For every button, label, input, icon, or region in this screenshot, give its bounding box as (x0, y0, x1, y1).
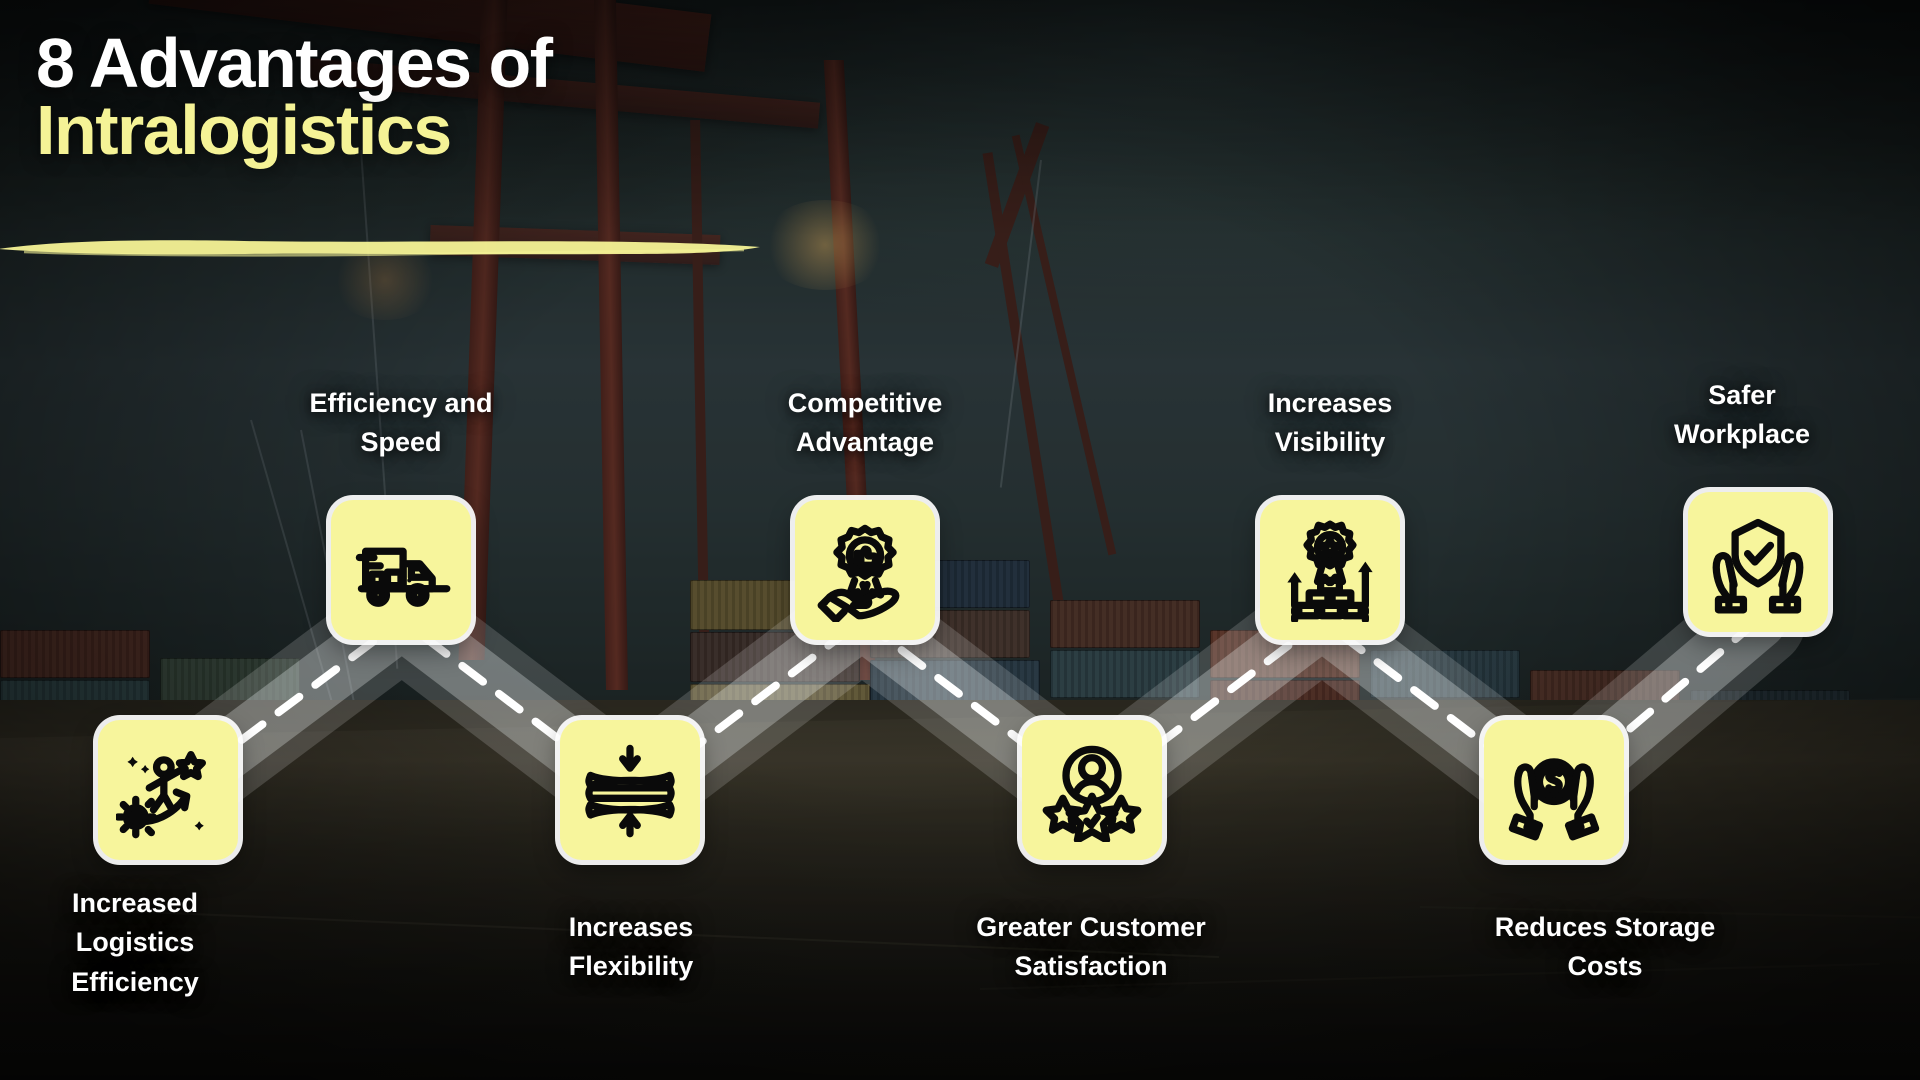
tile-efficiency-and-speed[interactable] (331, 500, 471, 640)
infographic-canvas: 8 Advantages of Intralogistics Efficienc… (0, 0, 1920, 1080)
caption-safer-workplace: Safer Workplace (1592, 376, 1892, 455)
infographic-title: 8 Advantages of Intralogistics (36, 30, 552, 164)
caption-increased-logistics-efficiency: Increased Logistics Efficiency (0, 884, 285, 1002)
hands-holding-dollar-coin-icon (1502, 738, 1606, 842)
tile-increased-logistics-efficiency[interactable] (98, 720, 238, 860)
caption-line: Visibility (1180, 423, 1480, 462)
caption-line: Advantage (715, 423, 1015, 462)
caption-line: Efficiency and (251, 384, 551, 423)
caption-line: Flexibility (481, 947, 781, 986)
tile-safer-workplace[interactable] (1688, 492, 1828, 632)
customer-rating-stars-icon (1040, 738, 1144, 842)
caption-line: Costs (1455, 947, 1755, 986)
tile-increases-flexibility[interactable] (560, 720, 700, 860)
caption-line: Logistics (0, 923, 285, 962)
title-line-2: Intralogistics (36, 97, 552, 164)
caption-line: Efficiency (0, 963, 285, 1002)
caption-line: Speed (251, 423, 551, 462)
tile-competitive-advantage[interactable] (795, 500, 935, 640)
caption-greater-customer-satisfaction: Greater Customer Satisfaction (941, 908, 1241, 987)
caption-line: Greater Customer (941, 908, 1241, 947)
hands-holding-shield-check-icon (1706, 510, 1810, 614)
award-badge-over-brick-stack-icon (1278, 518, 1382, 622)
caption-increases-visibility: Increases Visibility (1180, 384, 1480, 463)
caption-line: Safer (1592, 376, 1892, 415)
hand-holding-thumbs-up-badge-icon (813, 518, 917, 622)
caption-line: Reduces Storage (1455, 908, 1755, 947)
caption-line: Workplace (1592, 415, 1892, 454)
caption-increases-flexibility: Increases Flexibility (481, 908, 781, 987)
caption-reduces-storage-costs: Reduces Storage Costs (1455, 908, 1755, 987)
caption-efficiency-and-speed: Efficiency and Speed (251, 384, 551, 463)
caption-line: Competitive (715, 384, 1015, 423)
caption-line: Increased (0, 884, 285, 923)
caption-competitive-advantage: Competitive Advantage (715, 384, 1015, 463)
tile-increases-visibility[interactable] (1260, 500, 1400, 640)
flexible-bending-bars-icon (578, 738, 682, 842)
caption-line: Satisfaction (941, 947, 1241, 986)
caption-line: Increases (1180, 384, 1480, 423)
tile-greater-customer-satisfaction[interactable] (1022, 720, 1162, 860)
person-climbing-growth-arrow-icon (116, 738, 220, 842)
title-underline-brushstroke (0, 232, 764, 258)
tile-reduces-storage-costs[interactable] (1484, 720, 1624, 860)
caption-line: Increases (481, 908, 781, 947)
delivery-truck-icon (349, 518, 453, 622)
